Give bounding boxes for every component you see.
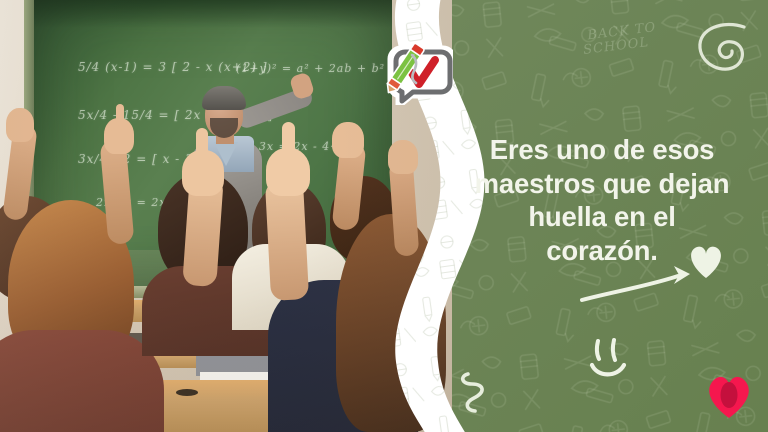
- spiral-doodle: [694, 22, 756, 78]
- smiley-doodle: [585, 335, 635, 383]
- squiggle-doodle: [458, 366, 498, 418]
- quote-line-2: maestros que dejan: [452, 167, 752, 201]
- pencil-check-sticker[interactable]: [381, 33, 453, 105]
- arrow-underline-doodle: [578, 262, 708, 306]
- heart-logo[interactable]: [703, 370, 755, 422]
- quote-line-1: Eres uno de esos: [452, 133, 752, 167]
- quote-line-3: huella en el: [452, 200, 752, 234]
- poster-canvas: BACK TO SCHOOL 5/4 (x-1) = 3 [ 2 - x (x+…: [0, 0, 768, 432]
- heart-inner-lobe: [721, 382, 738, 408]
